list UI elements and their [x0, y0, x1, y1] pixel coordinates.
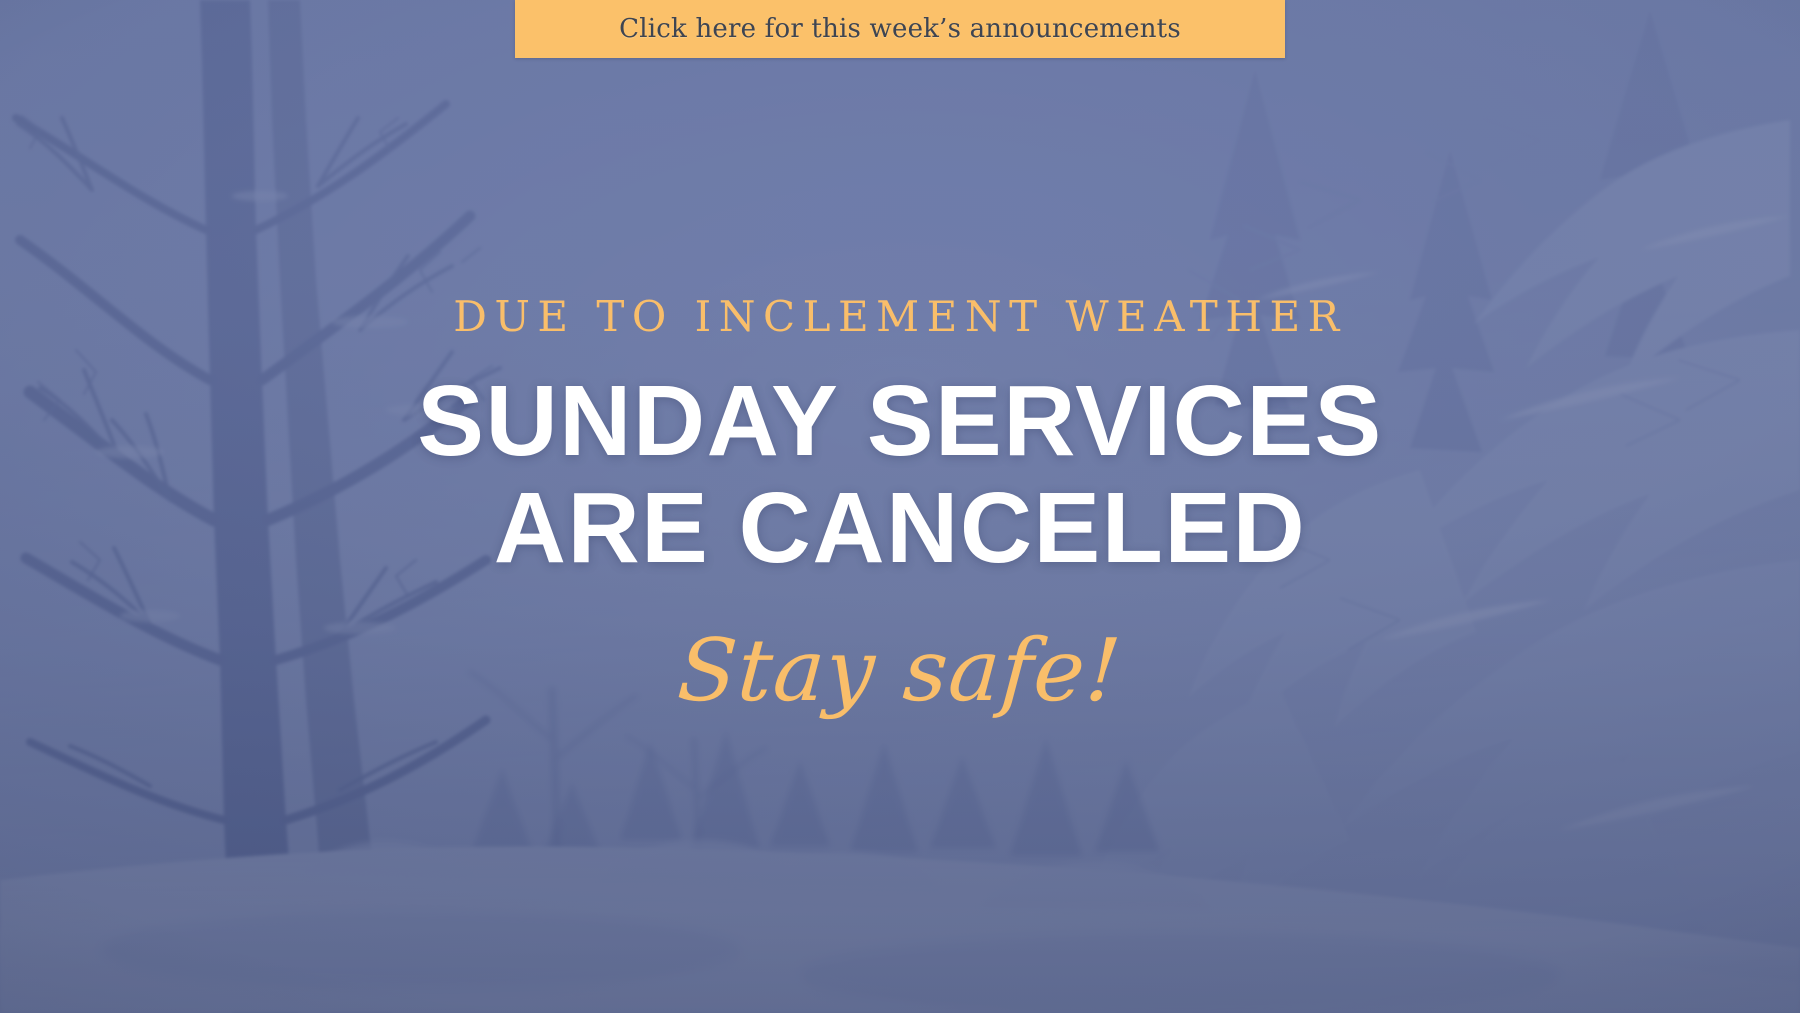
announcements-banner-label: Click here for this week’s announcements	[619, 14, 1181, 44]
announcement-slide: Click here for this week’s announcements…	[0, 0, 1800, 1013]
photo-vignette	[0, 0, 1800, 1013]
background-photo	[0, 0, 1800, 1013]
announcements-banner-button[interactable]: Click here for this week’s announcements	[515, 0, 1285, 58]
